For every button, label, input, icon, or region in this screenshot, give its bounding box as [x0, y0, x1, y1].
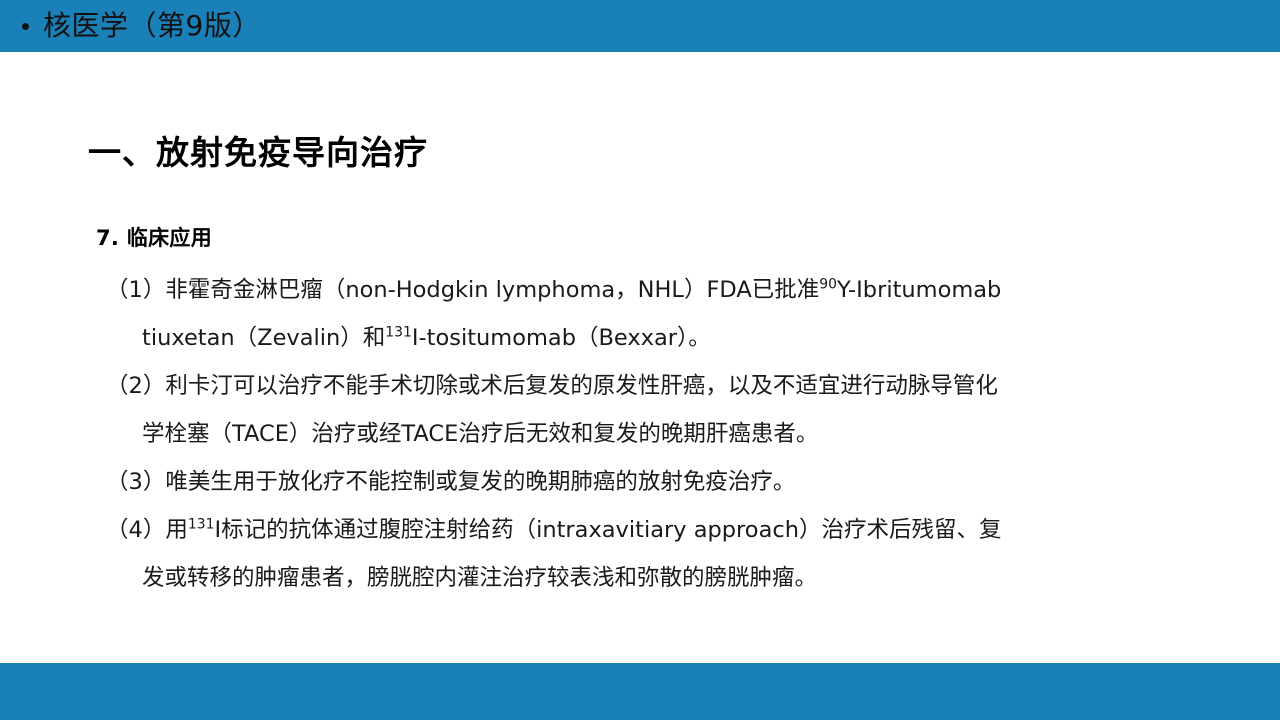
text-run: tiuxetan（Zevalin）和 [142, 325, 385, 351]
isotope-superscript: 90 [819, 277, 837, 293]
item-3-line-1: （3）唯美生用于放化疗不能控制或复发的晚期肺癌的放射免疫治疗。 [96, 458, 1206, 506]
text-run: I标记的抗体通过腹腔注射给药（intraxavitiary approach）治… [214, 517, 1001, 543]
text-run: （3）唯美生用于放化疗不能控制或复发的晚期肺癌的放射免疫治疗。 [106, 469, 795, 495]
header-title: 核医学（第9版） [43, 12, 261, 40]
item-4-line-1: （4）用131I标记的抗体通过腹腔注射给药（intraxavitiary app… [96, 506, 1206, 554]
slide-canvas: 核医学（第9版） 一、放射免疫导向治疗 7. 临床应用 （1）非霍奇金淋巴瘤（n… [0, 0, 1280, 720]
item-2-line-2: 学栓塞（TACE）治疗或经TACE治疗后无效和复发的晚期肝癌患者。 [96, 410, 1206, 458]
isotope-superscript: 131 [188, 517, 215, 533]
text-run: （1）非霍奇金淋巴瘤（non-Hodgkin lymphoma，NHL）FDA已… [106, 277, 819, 303]
item-1-line-2: tiuxetan（Zevalin）和131I-tositumomab（Bexxa… [96, 314, 1206, 362]
bullet-icon [22, 23, 29, 30]
page-title: 一、放射免疫导向治疗 [88, 126, 428, 174]
text-run: I-tositumomab（Bexxar）。 [412, 325, 711, 351]
text-run: 发或转移的肿瘤患者，膀胱腔内灌注治疗较表浅和弥散的膀胱肿瘤。 [142, 565, 817, 591]
text-run: （2）利卡汀可以治疗不能手术切除或术后复发的原发性肝癌，以及不适宜进行动脉导管化 [106, 373, 998, 399]
text-run: Y-Ibritumomab [837, 277, 1001, 303]
item-2-line-1: （2）利卡汀可以治疗不能手术切除或术后复发的原发性肝癌，以及不适宜进行动脉导管化 [96, 362, 1206, 410]
slide-footer-bar [0, 663, 1280, 720]
subsection-heading: 7. 临床应用 [96, 222, 1206, 252]
text-run: （4）用 [106, 517, 188, 543]
slide-header-bar: 核医学（第9版） [0, 0, 1280, 52]
text-run: 学栓塞（TACE）治疗或经TACE治疗后无效和复发的晚期肝癌患者。 [142, 421, 818, 447]
item-1-line-1: （1）非霍奇金淋巴瘤（non-Hodgkin lymphoma，NHL）FDA已… [96, 266, 1206, 314]
paragraph-list: （1）非霍奇金淋巴瘤（non-Hodgkin lymphoma，NHL）FDA已… [96, 266, 1206, 602]
content-body: 7. 临床应用 （1）非霍奇金淋巴瘤（non-Hodgkin lymphoma，… [96, 222, 1206, 602]
isotope-superscript: 131 [385, 325, 412, 341]
item-4-line-2: 发或转移的肿瘤患者，膀胱腔内灌注治疗较表浅和弥散的膀胱肿瘤。 [96, 554, 1206, 602]
